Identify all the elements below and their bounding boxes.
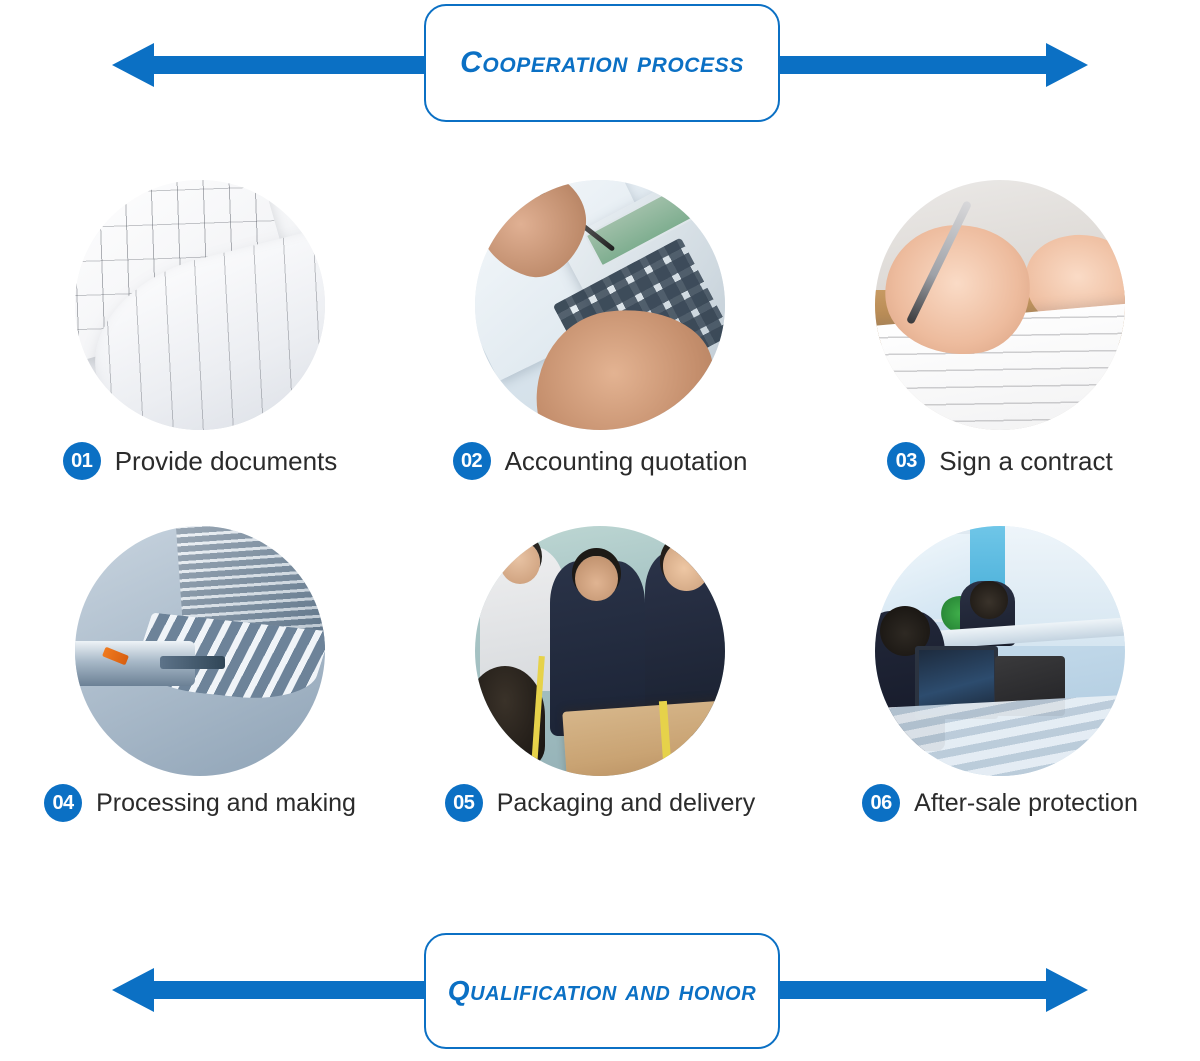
cooperation-steps-grid: 01 Provide documents 02 Accounting qu bbox=[0, 170, 1200, 866]
step-badge-06: 06 bbox=[862, 784, 900, 822]
worker-head-background bbox=[500, 541, 540, 584]
step-label-05: Packaging and delivery bbox=[497, 789, 756, 818]
step-caption-06: 06 After-sale protection bbox=[800, 784, 1200, 822]
step-caption-01: 01 Provide documents bbox=[0, 442, 400, 480]
banner-title-text: Cooperation process bbox=[460, 46, 744, 80]
cooperation-process-banner: Cooperation process bbox=[0, 0, 1200, 130]
step-badge-02: 02 bbox=[453, 442, 491, 480]
tool-tip bbox=[160, 656, 225, 669]
step-label-02: Accounting quotation bbox=[505, 446, 748, 477]
step-label-06: After-sale protection bbox=[914, 789, 1138, 818]
office-workers-photo bbox=[875, 526, 1125, 776]
worker-head-center bbox=[575, 556, 618, 601]
arrow-right-icon bbox=[758, 968, 1088, 1012]
step-badge-01: 01 bbox=[63, 442, 101, 480]
qualification-honor-banner: Qualification and honor bbox=[0, 925, 1200, 1061]
step-caption-03: 03 Sign a contract bbox=[800, 442, 1200, 480]
packaging-workers-photo bbox=[475, 526, 725, 776]
rolled-blueprints-photo bbox=[75, 180, 325, 430]
step-card-03[interactable]: 03 Sign a contract bbox=[800, 170, 1200, 518]
step-image-04 bbox=[75, 526, 325, 776]
banner-title-box-bottom: Qualification and honor bbox=[424, 933, 780, 1049]
banner-title-box: Cooperation process bbox=[424, 4, 780, 122]
step-label-04: Processing and making bbox=[96, 789, 356, 818]
step-label-03: Sign a contract bbox=[939, 446, 1112, 477]
worker-far-head bbox=[970, 581, 1008, 619]
step-caption-05: 05 Packaging and delivery bbox=[400, 784, 800, 822]
step-caption-02: 02 Accounting quotation bbox=[400, 442, 800, 480]
arrow-left-icon bbox=[112, 43, 442, 87]
step-caption-04: 04 Processing and making bbox=[0, 784, 400, 822]
step-image-01 bbox=[75, 180, 325, 430]
step-card-02[interactable]: 02 Accounting quotation bbox=[400, 170, 800, 518]
hands-calculator-photo bbox=[475, 180, 725, 430]
step-badge-04: 04 bbox=[44, 784, 82, 822]
banner-title-text-bottom: Qualification and honor bbox=[448, 975, 757, 1007]
signing-contract-photo bbox=[875, 180, 1125, 430]
arrow-right-icon bbox=[758, 43, 1088, 87]
cubicle-blinds bbox=[875, 694, 1125, 776]
step-image-05 bbox=[475, 526, 725, 776]
step-image-03 bbox=[875, 180, 1125, 430]
step-label-01: Provide documents bbox=[115, 446, 338, 477]
steps-row-1: 01 Provide documents 02 Accounting qu bbox=[0, 170, 1200, 518]
step-badge-03: 03 bbox=[887, 442, 925, 480]
step-image-02 bbox=[475, 180, 725, 430]
step-badge-05: 05 bbox=[445, 784, 483, 822]
cardboard-box bbox=[562, 700, 725, 776]
arrow-left-icon bbox=[112, 968, 442, 1012]
step-card-05[interactable]: 05 Packaging and delivery bbox=[400, 518, 800, 866]
step-image-06 bbox=[875, 526, 1125, 776]
step-card-01[interactable]: 01 Provide documents bbox=[0, 170, 400, 518]
step-card-04[interactable]: 04 Processing and making bbox=[0, 518, 400, 866]
cnc-machining-photo bbox=[75, 526, 325, 776]
step-card-06[interactable]: 06 After-sale protection bbox=[800, 518, 1200, 866]
worker-head-right bbox=[663, 541, 711, 591]
steps-row-2: 04 Processing and making bbox=[0, 518, 1200, 866]
